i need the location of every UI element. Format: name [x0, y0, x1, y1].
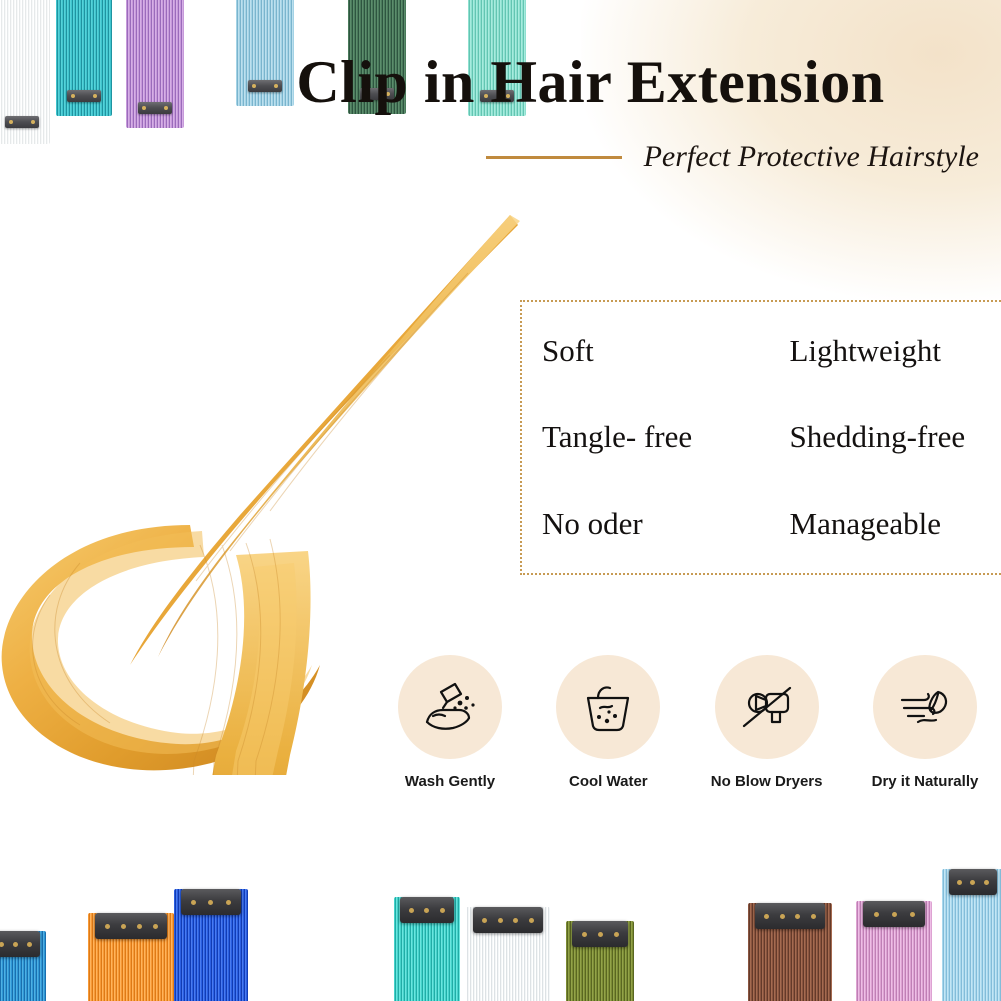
no-blow-dryer-icon: [736, 678, 798, 736]
care-label-no-blow-dryers: No Blow Dryers: [697, 773, 837, 790]
wash-basin-icon: [578, 678, 638, 736]
product-banner: Clip in Hair Extension Perfect Protectiv…: [0, 0, 1001, 1001]
care-item-wash-gently: Wash Gently: [380, 655, 520, 790]
feature-item-soft: Soft: [542, 333, 772, 369]
extension-olive-green: [566, 921, 634, 1001]
extension-orange: [88, 913, 174, 1001]
care-icon-circle-air-dry: [873, 655, 977, 759]
care-item-no-blow-dryers: No Blow Dryers: [697, 655, 837, 790]
care-item-cool-water: Cool Water: [538, 655, 678, 790]
care-instruction-row: Wash Gently Cool: [380, 655, 995, 790]
feature-item-tangle-free: Tangle- free: [542, 419, 772, 455]
extension-brown: [748, 903, 832, 1001]
extension-blue-teal: [0, 931, 46, 1001]
care-label-cool-water: Cool Water: [538, 773, 678, 790]
care-label-wash-gently: Wash Gently: [380, 773, 520, 790]
care-label-dry-naturally: Dry it Naturally: [855, 773, 995, 790]
hand-washing-icon: [419, 678, 481, 736]
feature-item-lightweight: Lightweight: [772, 333, 1001, 369]
care-icon-circle-water: [556, 655, 660, 759]
feature-list-box: Soft Lightweight Tangle- free Shedding-f…: [520, 300, 1001, 575]
extension-silver-white: [466, 907, 550, 1001]
extension-turquoise: [394, 897, 460, 1001]
care-icon-circle-no-dryer: [715, 655, 819, 759]
accent-rule: [486, 156, 622, 159]
feature-item-manageable: Manageable: [772, 506, 1001, 542]
feature-item-shedding-free: Shedding-free: [772, 419, 1001, 455]
bottom-extension-strip: [0, 841, 1001, 1001]
care-icon-circle-wash: [398, 655, 502, 759]
extension-light-blue-edge: [942, 869, 1001, 1001]
banner-subheadline-row: Perfect Protective Hairstyle: [0, 140, 1001, 174]
air-dry-leaf-icon: [894, 678, 956, 736]
banner-headline: Clip in Hair Extension: [0, 48, 1001, 117]
care-item-dry-naturally: Dry it Naturally: [855, 655, 995, 790]
feature-item-no-oder: No oder: [542, 506, 772, 542]
extension-pink-lavender: [856, 901, 932, 1001]
banner-subheadline: Perfect Protective Hairstyle: [644, 140, 979, 174]
extension-royal-blue: [174, 889, 248, 1001]
